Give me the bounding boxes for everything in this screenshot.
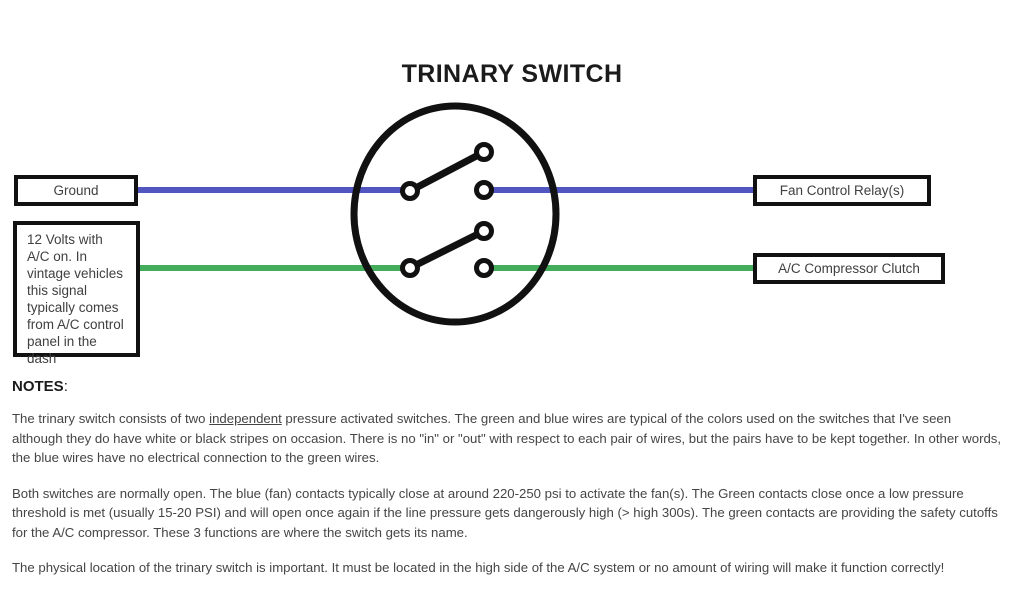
notes-section: NOTES: The trinary switch consists of tw… [12,378,1012,594]
node-ground: Ground [14,175,138,206]
note-paragraph-p3: The physical location of the trinary swi… [12,558,1002,578]
blue-switch-lever-tip [477,145,492,160]
blue-switch-contact-terminal [477,183,492,198]
note-text: The physical location of the trinary swi… [12,560,944,575]
green-switch-lever-tip [477,224,492,239]
green-switch-lever [410,231,484,268]
blue-fan-switch [403,145,492,199]
node-twelve-volts-source: 12 Volts with A/C on. In vintage vehicle… [13,221,140,357]
notes-heading-keyword: NOTES [12,378,64,395]
note-paragraph-p1: The trinary switch consists of two indep… [12,409,1002,468]
notes-heading-colon: : [64,378,68,395]
note-emphasis: independent [209,411,282,426]
node-fan-control-relay: Fan Control Relay(s) [753,175,931,206]
note-paragraph-p2: Both switches are normally open. The blu… [12,484,1002,543]
trinary-switch-body [354,106,556,322]
green-switch-contact-terminal [477,261,492,276]
diagram-stage: TRINARY SWITCH Ground 12 Volts with A/C … [0,0,1024,372]
green-switch-pivot-terminal [403,261,418,276]
blue-switch-pivot-terminal [403,184,418,199]
green-safety-switch [403,224,492,276]
notes-heading: NOTES: [12,378,1012,395]
blue-switch-lever [410,152,484,191]
notes-body: The trinary switch consists of two indep… [12,409,1012,578]
note-text: Both switches are normally open. The blu… [12,486,998,540]
note-text: The trinary switch consists of two [12,411,209,426]
node-ac-compressor-clutch: A/C Compressor Clutch [753,253,945,284]
